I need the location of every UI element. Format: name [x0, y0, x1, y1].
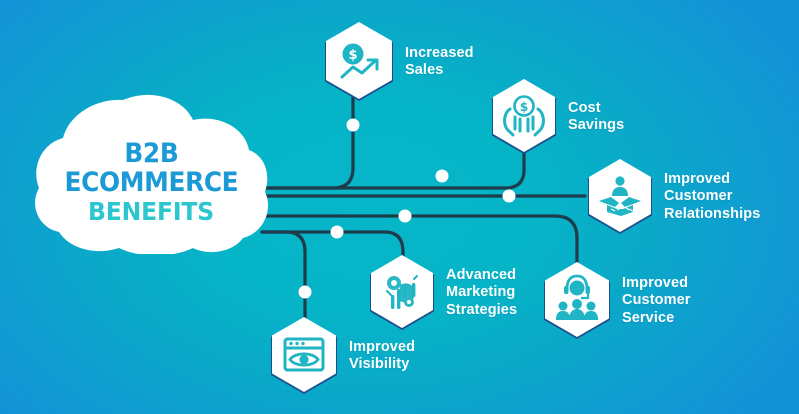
handshake-person-icon: [585, 159, 655, 235]
hex-customer-relationships: [585, 159, 655, 235]
node-improved-customer-service[interactable]: Improved Customer Service: [541, 262, 690, 340]
connector-cost-savings: [262, 148, 524, 188]
browser-eye-icon: [268, 317, 340, 395]
cloud-title-text: B2B ECOMMERCE BENEFITS: [33, 92, 269, 254]
svg-text:$: $: [520, 100, 528, 114]
hex-cost-savings: $: [489, 79, 559, 155]
node-improved-customer-relationships[interactable]: Improved Customer Relationships: [585, 159, 760, 235]
title-line-1: B2B: [124, 140, 178, 168]
money-growth-chart-icon: $: [322, 22, 396, 102]
connector-dot-customer-relationships: [503, 190, 516, 203]
label-customer-service: Improved Customer Service: [622, 275, 690, 326]
label-cost-savings: Cost Savings: [568, 100, 624, 134]
hands-holding-coin-icon: $: [489, 79, 559, 155]
hex-customer-service: [541, 262, 613, 340]
label-increased-sales: Increased Sales: [405, 45, 474, 79]
headset-support-team-icon: [541, 262, 613, 340]
svg-text:$: $: [348, 48, 357, 63]
b2b-ecommerce-benefits-infographic: B2B ECOMMERCE BENEFITS $ Increased Sales: [0, 0, 799, 414]
connector-dot-cost-savings: [436, 170, 449, 183]
label-customer-relationships: Improved Customer Relationships: [664, 171, 760, 222]
connector-dot-advanced-marketing: [331, 226, 344, 239]
label-improved-visibility: Improved Visibility: [349, 339, 415, 373]
connector-increased-sales: [262, 95, 353, 188]
title-line-3: BENEFITS: [88, 197, 214, 228]
connector-dot-improved-visibility: [299, 286, 312, 299]
title-line-2: ECOMMERCE: [64, 168, 238, 197]
node-increased-sales[interactable]: $ Increased Sales: [322, 22, 474, 102]
label-advanced-marketing: Advanced Marketing Strategies: [446, 267, 517, 318]
hex-increased-sales: $: [322, 22, 396, 102]
hex-improved-visibility: [268, 317, 340, 395]
node-improved-visibility[interactable]: Improved Visibility: [268, 317, 415, 395]
connector-dot-customer-service: [399, 210, 412, 223]
title-cloud: B2B ECOMMERCE BENEFITS: [33, 92, 269, 254]
connector-dot-increased-sales: [347, 119, 360, 132]
node-cost-savings[interactable]: $ Cost Savings: [489, 79, 624, 155]
